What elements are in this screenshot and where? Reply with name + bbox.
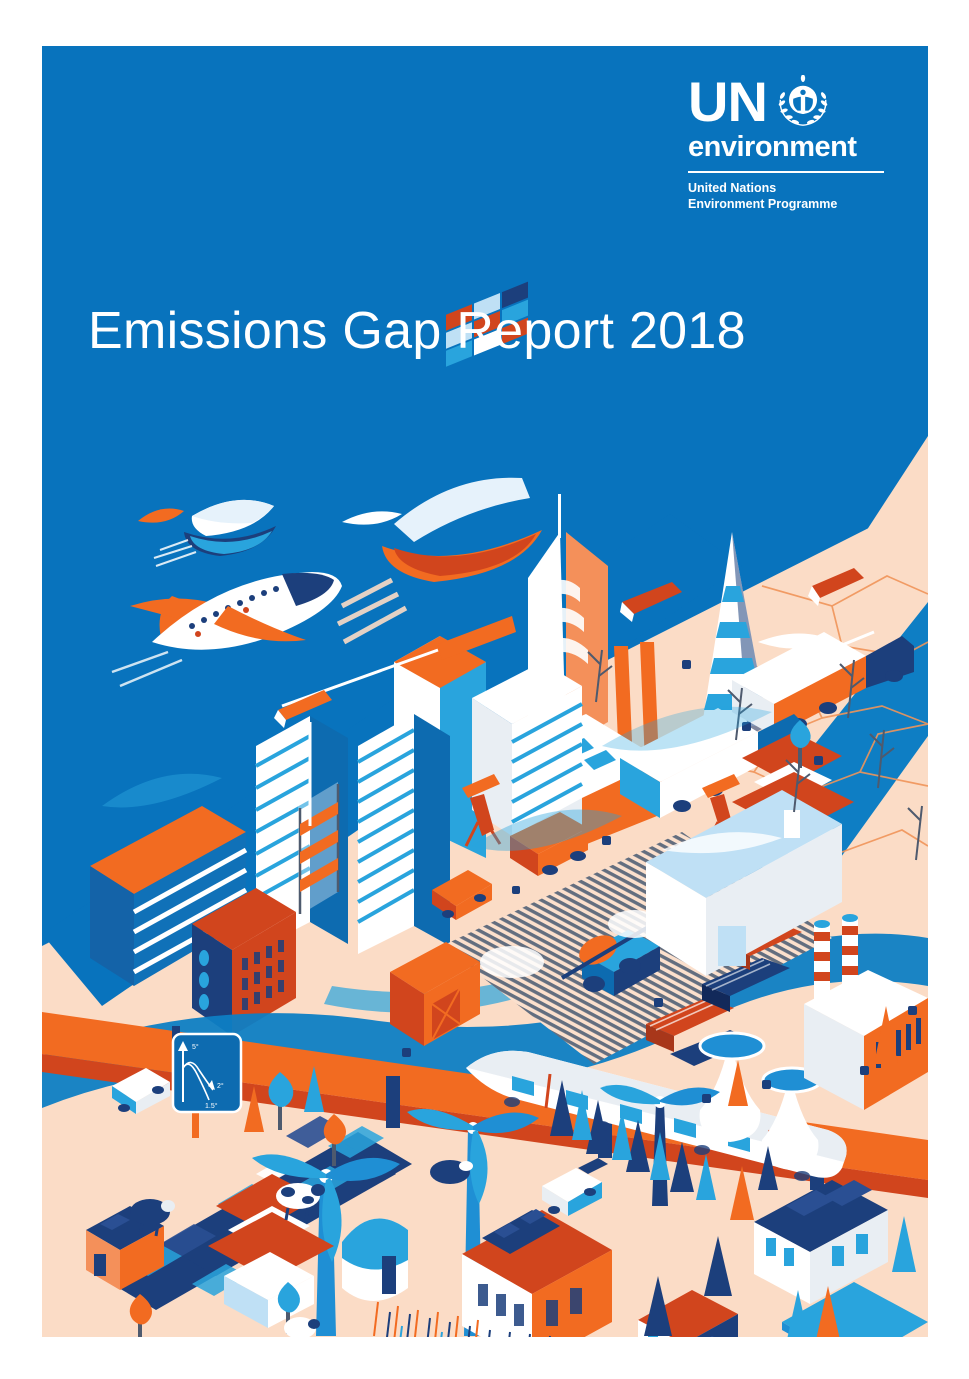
- logo-un-text: UN: [688, 76, 767, 128]
- un-environment-emblem: [776, 75, 830, 129]
- svg-text:5°: 5°: [192, 1043, 199, 1051]
- logo-environment-text: environment: [688, 133, 884, 162]
- svg-text:1.5°: 1.5°: [205, 1102, 218, 1110]
- page-title: Emissions Gap Report 2018: [88, 301, 746, 361]
- svg-text:2°: 2°: [217, 1082, 224, 1090]
- un-environment-logo: UN: [688, 75, 884, 212]
- logo-subtitle-line2: Environment Programme: [688, 196, 884, 212]
- logo-subtitle-line1: United Nations: [688, 180, 884, 196]
- logo-divider: [688, 171, 884, 173]
- report-cover: 5° 2° 1.5° Emissions Gap Report 2018 UN: [42, 46, 928, 1337]
- logo-subtitle: United Nations Environment Programme: [688, 180, 884, 212]
- cover-illustration: 5° 2° 1.5°: [42, 46, 928, 1337]
